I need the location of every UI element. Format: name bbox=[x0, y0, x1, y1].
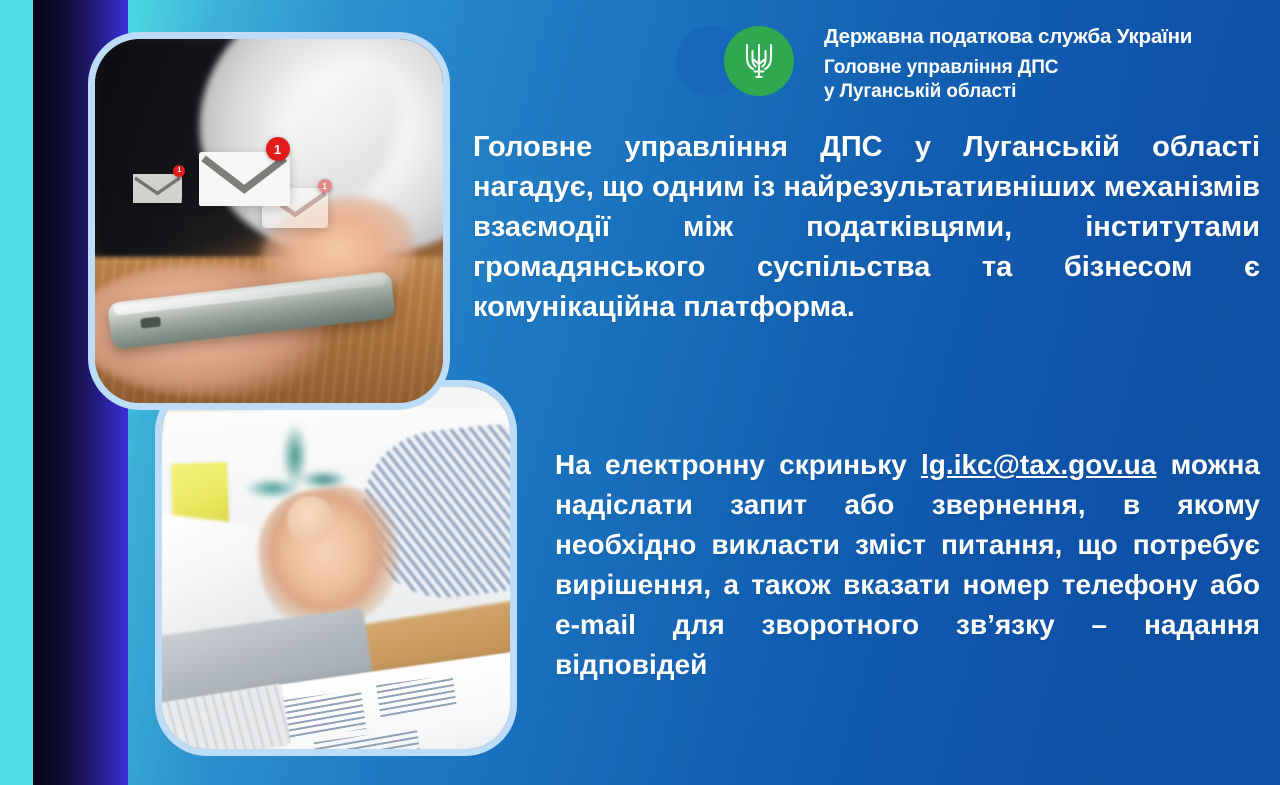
paragraph-2-lead: На електронну скриньку bbox=[555, 449, 921, 480]
dept-name-line-1: Головне управління ДПС bbox=[824, 56, 1192, 81]
badge-count-left: 1 bbox=[173, 165, 185, 177]
paragraph-2-tail: можна надіслати запит або звернення, в я… bbox=[555, 449, 1260, 680]
paragraph-email-instructions: На електронну скриньку lg.ikc@tax.gov.ua… bbox=[555, 445, 1260, 685]
envelope-small-left-icon bbox=[133, 174, 182, 203]
photo-card-handshake bbox=[155, 380, 517, 756]
photo-card-phone-email: 1 1 1 bbox=[88, 32, 450, 410]
brand-header: Державна податкова служба України Головн… bbox=[672, 12, 1192, 105]
photo-phone-email-image: 1 1 1 bbox=[95, 39, 443, 403]
logo-marks bbox=[672, 12, 824, 104]
paragraph-intro: Головне управління ДПС у Луганській обла… bbox=[473, 127, 1260, 327]
org-name: Державна податкова служба України bbox=[824, 24, 1192, 51]
badge-count-right: 1 bbox=[318, 179, 332, 193]
email-link[interactable]: lg.ikc@tax.gov.ua bbox=[921, 449, 1156, 480]
org-title-group: Державна податкова служба України Головн… bbox=[824, 12, 1192, 105]
poster-canvas: Державна податкова служба України Головн… bbox=[0, 0, 1280, 785]
photo-handshake-image bbox=[162, 387, 510, 749]
badge-count-main: 1 bbox=[266, 137, 290, 161]
left-cyan-strip bbox=[0, 0, 33, 785]
trident-emblem-icon bbox=[724, 26, 794, 96]
dept-name-line-2: у Луганській області bbox=[824, 80, 1192, 105]
